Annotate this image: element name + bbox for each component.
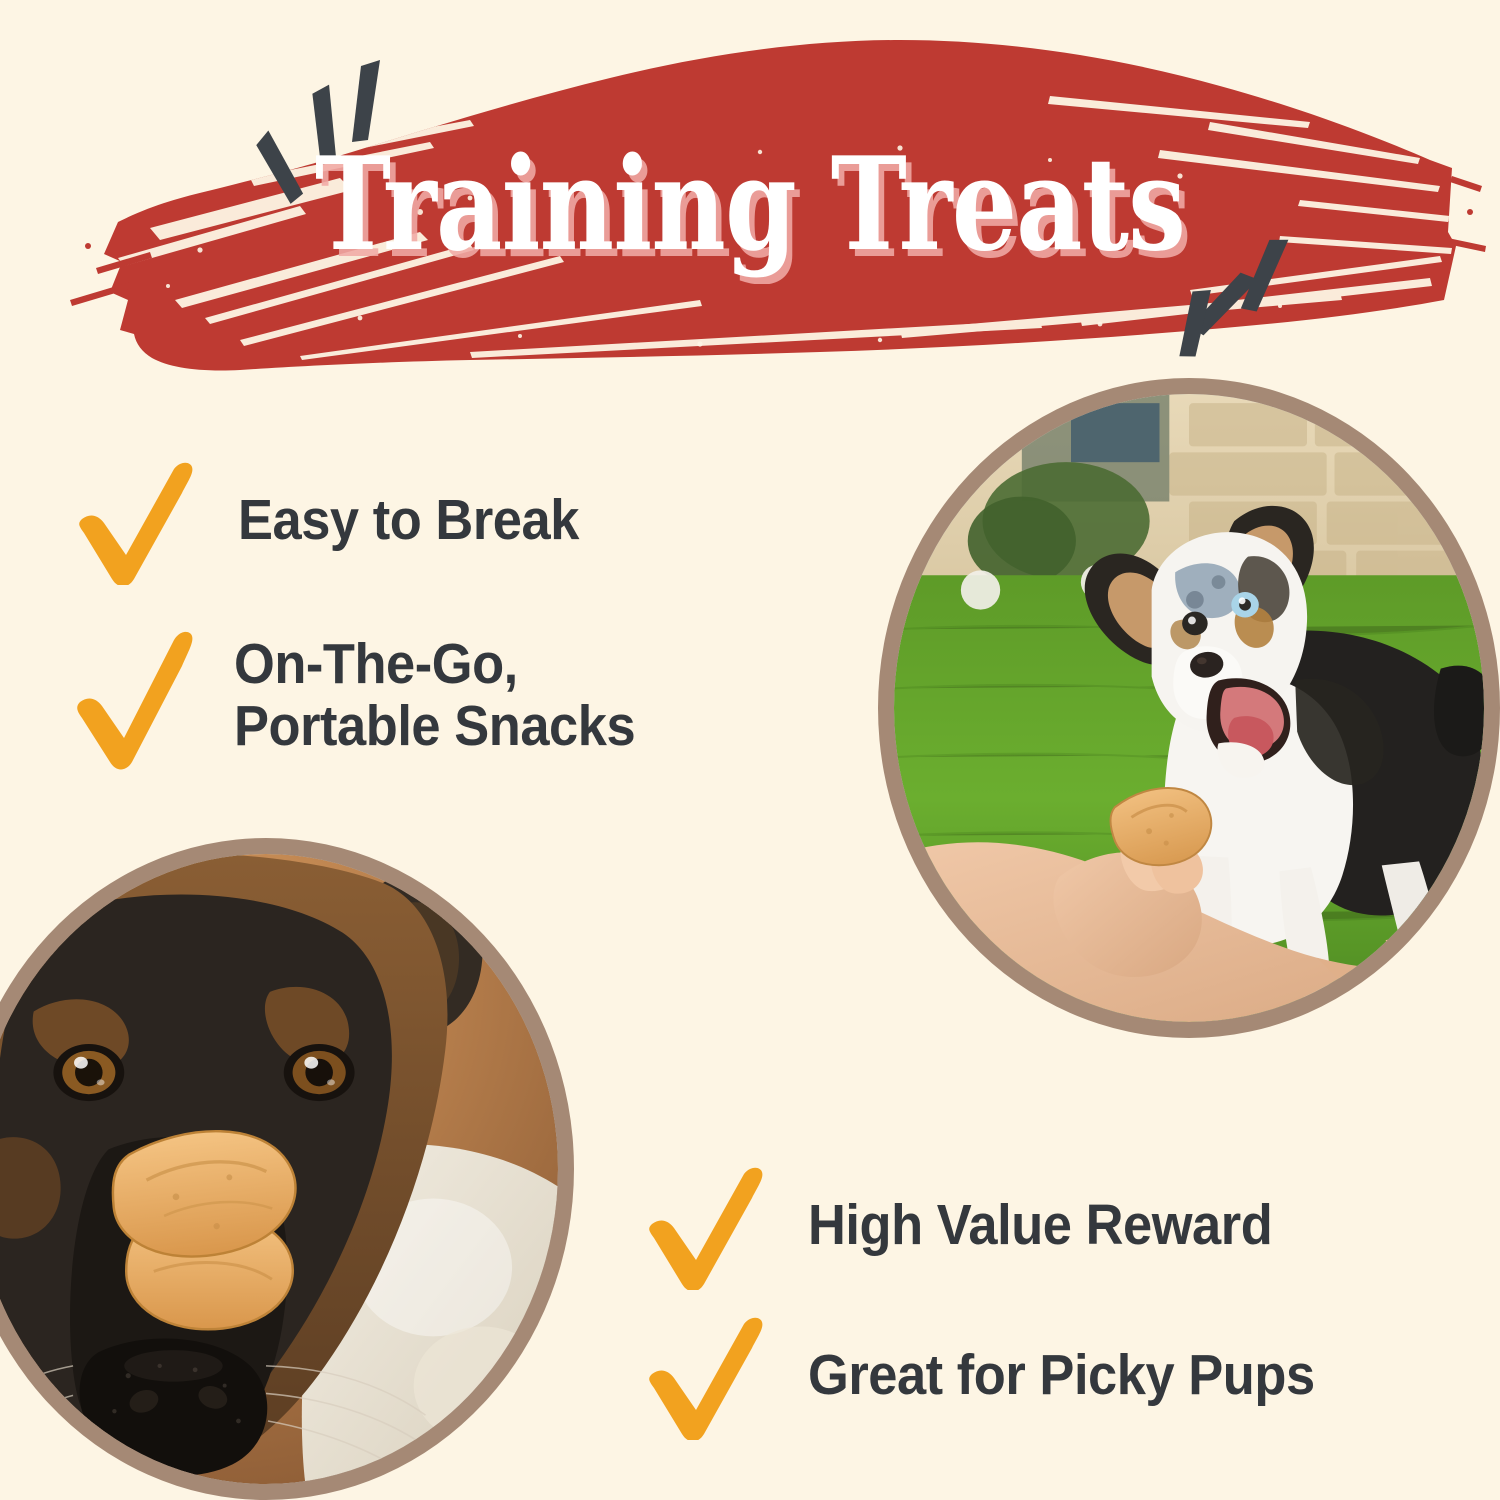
feature-label: On-The-Go, Portable Snacks: [234, 633, 635, 757]
photo-illustration-puppy: [894, 394, 1484, 1022]
photo-shepherd-treat-on-nose: [0, 838, 574, 1500]
checkmark-icon: [640, 1310, 770, 1440]
photo-clip: [894, 394, 1484, 1022]
feature-label: Great for Picky Pups: [808, 1345, 1315, 1405]
checkmark-icon: [70, 620, 200, 770]
photo-clip: [0, 854, 558, 1484]
feature-item-great-for-picky-pups: Great for Picky Pups: [640, 1310, 1359, 1440]
page-title: Training Treats: [150, 130, 1350, 280]
photo-illustration-shepherd: [0, 854, 558, 1484]
photo-puppy-taking-treat: [878, 378, 1500, 1038]
feature-label: High Value Reward: [808, 1195, 1272, 1255]
feature-item-high-value-reward: High Value Reward: [640, 1160, 1313, 1290]
feature-item-on-the-go: On-The-Go, Portable Snacks: [70, 620, 670, 770]
header-banner: Training Treats: [0, 0, 1500, 400]
feature-label: Easy to Break: [238, 490, 579, 550]
infographic-canvas: Training Treats: [0, 0, 1500, 1500]
checkmark-icon: [70, 455, 200, 585]
feature-item-easy-to-break: Easy to Break: [70, 455, 609, 585]
checkmark-icon: [640, 1160, 770, 1290]
